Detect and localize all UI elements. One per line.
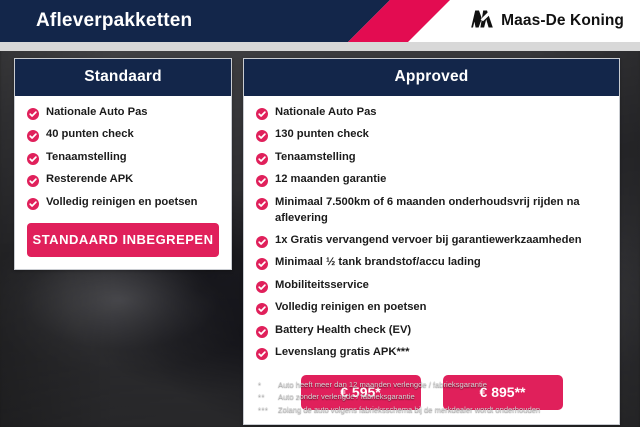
feature-label: Nationale Auto Pas — [275, 105, 377, 121]
footnote-row: *** Zolang de auto volgens fabrieksschem… — [258, 404, 626, 416]
check-circle-icon — [256, 152, 268, 164]
check-circle-icon — [27, 107, 39, 119]
feature-label: Tenaamstelling — [46, 150, 127, 166]
list-item: Volledig reinigen en poetsen — [27, 195, 219, 211]
feature-label: 12 maanden garantie — [275, 172, 386, 188]
feature-label: Volledig reinigen en poetsen — [46, 195, 197, 211]
check-circle-icon — [256, 302, 268, 314]
list-item: Volledig reinigen en poetsen — [256, 300, 607, 316]
feature-list-standaard: Nationale Auto Pas 40 punten check Tenaa… — [27, 105, 219, 211]
list-item: Mobiliteitsservice — [256, 278, 607, 294]
list-item: Battery Health check (EV) — [256, 323, 607, 339]
feature-label: Minimaal ½ tank brandstof/accu lading — [275, 255, 481, 271]
feature-label: Mobiliteitsservice — [275, 278, 369, 294]
check-circle-icon — [27, 197, 39, 209]
feature-label: 40 punten check — [46, 127, 134, 143]
check-circle-icon — [256, 257, 268, 269]
check-circle-icon — [256, 107, 268, 119]
brand-name: Maas-De Koning — [501, 12, 624, 30]
package-title-standaard: Standaard — [15, 59, 231, 96]
footnote-text: Zolang de auto volgens fabrieksschema bi… — [278, 404, 626, 416]
footnote-row: ** Auto zonder verlengde / fabrieksgaran… — [258, 391, 626, 403]
check-circle-icon — [27, 174, 39, 186]
check-circle-icon — [256, 347, 268, 359]
package-body-standaard: Nationale Auto Pas 40 punten check Tenaa… — [15, 96, 231, 269]
list-item: Minimaal ½ tank brandstof/accu lading — [256, 255, 607, 271]
footnote-marker: ** — [258, 391, 278, 403]
feature-label: 1x Gratis vervangend vervoer bij garanti… — [275, 233, 582, 249]
check-circle-icon — [256, 235, 268, 247]
afleverpakketten-screen: Afleverpakketten Maas-De Koning Standaar… — [0, 0, 640, 427]
list-item: Levenslang gratis APK*** — [256, 345, 607, 361]
footnote-text: Auto zonder verlengde / fabrieksgarantie — [278, 391, 626, 403]
check-circle-icon — [256, 280, 268, 292]
check-circle-icon — [256, 325, 268, 337]
feature-label: Volledig reinigen en poetsen — [275, 300, 426, 316]
feature-label: Battery Health check (EV) — [275, 323, 411, 339]
list-item: 40 punten check — [27, 127, 219, 143]
package-card-approved: Approved Nationale Auto Pas 130 punten c… — [243, 58, 620, 425]
list-item: Tenaamstelling — [256, 150, 607, 166]
page-title: Afleverpakketten — [36, 0, 192, 42]
check-circle-icon — [27, 152, 39, 164]
header-underline-strip — [0, 42, 640, 51]
list-item: Tenaamstelling — [27, 150, 219, 166]
footnote-row: * Auto heeft meer dan 12 maanden verleng… — [258, 379, 626, 391]
check-circle-icon — [27, 129, 39, 141]
feature-label: Minimaal 7.500km of 6 maanden onderhouds… — [275, 195, 607, 227]
feature-label: Levenslang gratis APK*** — [275, 345, 410, 361]
maas-de-koning-logo-icon — [470, 9, 494, 34]
list-item: 130 punten check — [256, 127, 607, 143]
list-item: 12 maanden garantie — [256, 172, 607, 188]
footnote-marker: *** — [258, 404, 278, 416]
list-item: Minimaal 7.500km of 6 maanden onderhouds… — [256, 195, 607, 227]
list-item: Resterende APK — [27, 172, 219, 188]
feature-label: Resterende APK — [46, 172, 133, 188]
feature-label: Tenaamstelling — [275, 150, 356, 166]
page-header: Afleverpakketten Maas-De Koning — [0, 0, 640, 42]
feature-label: 130 punten check — [275, 127, 369, 143]
footnotes-block: * Auto heeft meer dan 12 maanden verleng… — [258, 379, 626, 416]
list-item: Nationale Auto Pas — [27, 105, 219, 121]
footnote-marker: * — [258, 379, 278, 391]
list-item: 1x Gratis vervangend vervoer bij garanti… — [256, 233, 607, 249]
check-circle-icon — [256, 129, 268, 141]
brand-lockup: Maas-De Koning — [470, 0, 624, 42]
feature-list-approved: Nationale Auto Pas 130 punten check Tena… — [256, 105, 607, 361]
package-title-approved: Approved — [244, 59, 619, 96]
package-card-standaard: Standaard Nationale Auto Pas 40 punten c… — [14, 58, 232, 270]
package-body-approved: Nationale Auto Pas 130 punten check Tena… — [244, 96, 619, 424]
list-item: Nationale Auto Pas — [256, 105, 607, 121]
feature-label: Nationale Auto Pas — [46, 105, 148, 121]
standaard-inbegrepen-button[interactable]: STANDAARD INBEGREPEN — [27, 223, 219, 257]
footnote-text: Auto heeft meer dan 12 maanden verlengde… — [278, 379, 626, 391]
check-circle-icon — [256, 197, 268, 209]
check-circle-icon — [256, 174, 268, 186]
